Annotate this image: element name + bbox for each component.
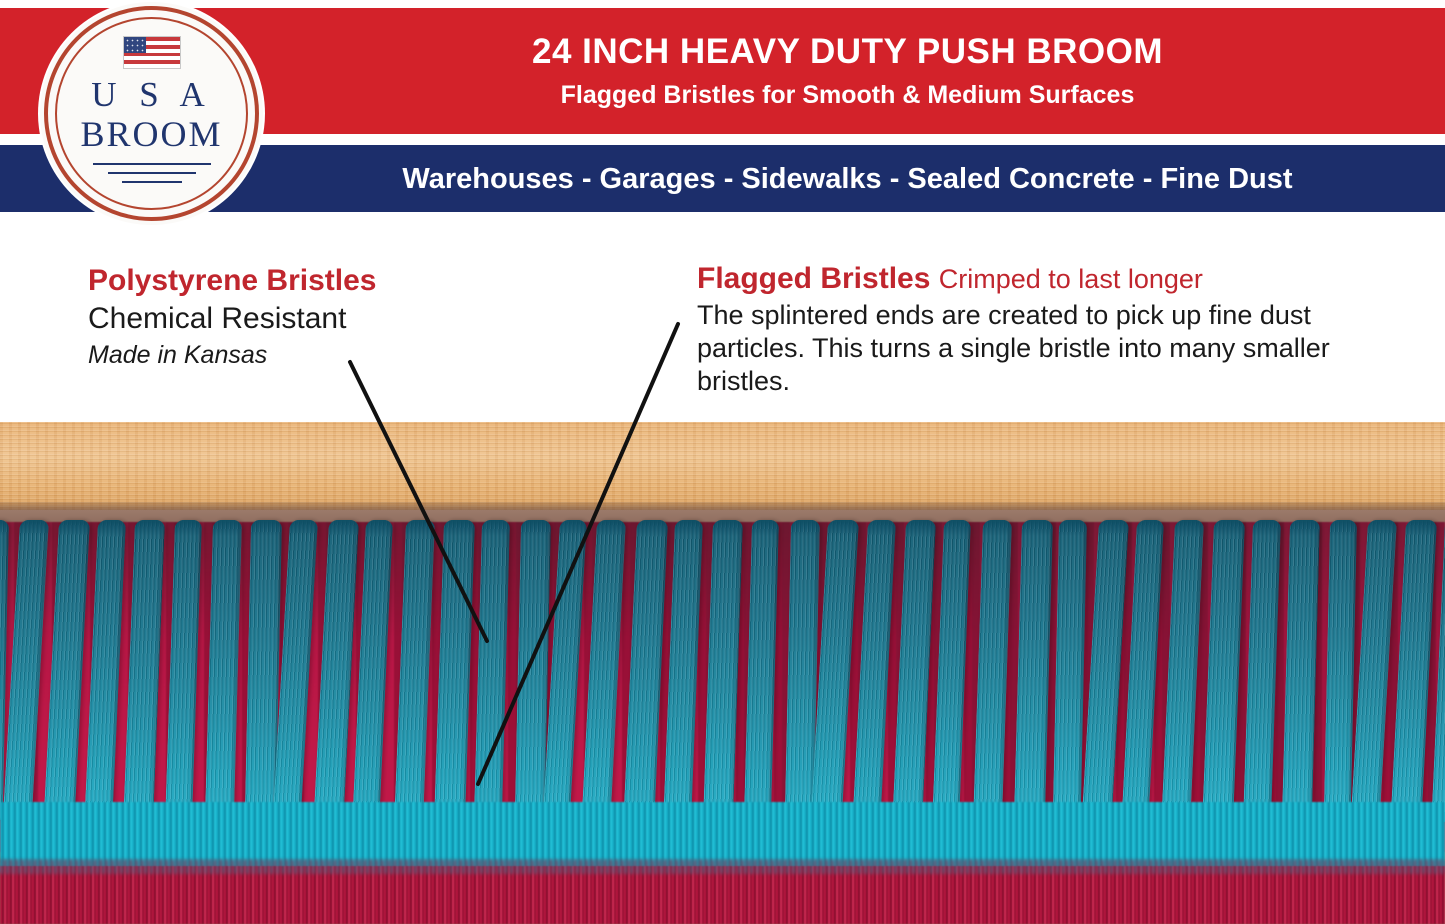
bristle-tuft xyxy=(84,520,126,821)
bristle-tuft xyxy=(851,520,895,833)
annotation-right: Flagged Bristles Crimped to last longer … xyxy=(697,260,1397,398)
logo-rule-lines xyxy=(48,163,255,190)
bristle-tuft xyxy=(1242,520,1280,831)
bristle-tuft xyxy=(473,520,510,835)
bristle-tuft xyxy=(313,520,359,823)
bristle-tuft xyxy=(164,520,201,827)
use-cases-text: Warehouses - Garages - Sidewalks - Seale… xyxy=(250,157,1445,201)
bristle-tuft xyxy=(123,520,165,832)
annotation-left-origin: Made in Kansas xyxy=(88,339,518,372)
bristle-tuft xyxy=(352,520,393,834)
page-title: 24 INCH HEAVY DUTY PUSH BROOM xyxy=(250,32,1445,72)
bristle-tuft xyxy=(434,520,475,824)
bristle-tuft xyxy=(43,520,90,826)
bristle-tuft xyxy=(622,520,667,831)
bristle-tuft xyxy=(1013,520,1052,829)
bristle-tuft xyxy=(744,520,779,832)
wood-block xyxy=(0,422,1445,512)
flag-canton xyxy=(124,37,146,53)
logo-line-usa: U S A xyxy=(48,76,255,114)
bristle-tuft xyxy=(1121,520,1164,830)
bristle-tuft xyxy=(1350,520,1397,832)
bristle-tuft xyxy=(1080,520,1128,835)
annotation-right-heading-bold: Flagged Bristles xyxy=(697,262,930,295)
infographic-page: 24 INCH HEAVY DUTY PUSH BROOM Flagged Br… xyxy=(0,0,1445,924)
bristle-tuft xyxy=(703,520,743,821)
bristle-tuft xyxy=(1390,520,1437,827)
bristle-tuft xyxy=(1282,520,1320,826)
annotation-left-subheading: Chemical Resistant xyxy=(88,301,518,337)
bristle-tuft xyxy=(1323,520,1356,821)
annotation-left: Polystyrene Bristles Chemical Resistant … xyxy=(88,262,518,372)
bristle-tuft xyxy=(393,520,434,829)
us-flag-icon xyxy=(123,36,181,69)
annotation-right-body: The splintered ends are created to pick … xyxy=(697,299,1397,398)
logo-line-broom: BROOM xyxy=(48,114,255,154)
bristle-tuft xyxy=(663,520,703,826)
annotation-right-heading: Flagged Bristles Crimped to last longer xyxy=(697,260,1397,298)
bristle-tuft xyxy=(932,520,971,823)
bristle-tuft xyxy=(2,520,49,831)
page-subtitle: Flagged Bristles for Smooth & Medium Sur… xyxy=(250,80,1445,110)
bristle-tuft xyxy=(1053,520,1087,824)
flagged-crimson-band xyxy=(0,866,1445,924)
bristle-tuft xyxy=(582,520,626,820)
bristle-tuft xyxy=(1161,520,1204,825)
bristle-tuft xyxy=(973,520,1012,834)
push-broom-closeup-photo xyxy=(0,422,1445,924)
annotation-left-heading: Polystyrene Bristles xyxy=(88,262,518,300)
bristle-tuft xyxy=(205,520,242,822)
bristle-tuft xyxy=(1202,520,1245,820)
bristle-tuft xyxy=(892,520,936,828)
annotation-right-heading-thin: Crimped to last longer xyxy=(939,264,1203,294)
usa-broom-logo: U S A BROOM xyxy=(44,6,259,221)
